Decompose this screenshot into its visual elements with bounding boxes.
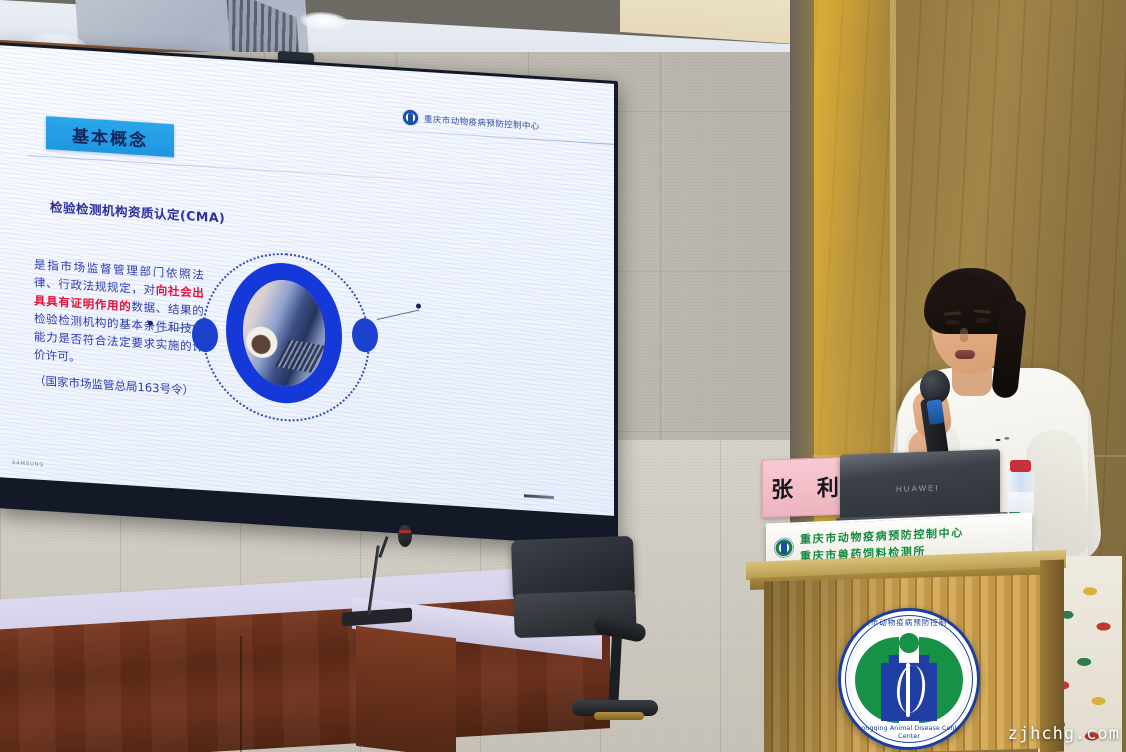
slide-header-logo-text: 重庆市动物疫病预防控制中心 <box>424 112 540 131</box>
right-leader-line <box>377 310 420 320</box>
speaker-mouth <box>955 350 975 359</box>
desk-panel-seam <box>240 636 242 752</box>
right-accent-circle <box>352 317 378 353</box>
slide-body-text: 是指市场监督管理部门依照法律、行政法规规定，对向社会出具具有证明作用的数据、结果… <box>34 255 204 374</box>
bottle-cap <box>1010 460 1031 472</box>
emblem-chinese-text: 重庆市动物疫病预防控制中心 <box>841 617 977 628</box>
left-accent-circle <box>192 317 218 353</box>
slide-citation: （国家市场监管总局163号令） <box>34 372 219 400</box>
slide-subtitle: 检验检测机构资质认定(CMA) <box>50 196 225 226</box>
left-leader-node <box>148 321 153 326</box>
laptop-coffee-photo <box>243 278 325 389</box>
led-display[interactable]: 重庆市动物疫病预防控制中心 基本概念 检验检测机构资质认定(CMA) 是指市场监… <box>0 42 622 551</box>
speaker-eye-right <box>975 318 990 323</box>
slide-title-rule <box>28 155 588 191</box>
slide-canvas: 重庆市动物疫病预防控制中心 基本概念 检验检测机构资质认定(CMA) 是指市场监… <box>0 45 614 516</box>
handheld-microphone-grip <box>926 399 944 425</box>
site-watermark: zjhchg.com <box>1008 724 1120 744</box>
laptop-brand-text: HUAWEI <box>896 483 940 494</box>
speaker-eye-left <box>945 320 960 325</box>
emblem-green-dot <box>899 633 919 653</box>
speaker-nose <box>960 328 968 342</box>
speaker-name-text: 张 利 <box>771 470 847 505</box>
keyboard-detail <box>275 340 326 373</box>
presentation-room-photo: 重庆市动物疫病预防控制中心 基本概念 检验检测机构资质认定(CMA) 是指市场监… <box>0 0 1126 752</box>
display-status-led <box>524 494 554 499</box>
office-chair-foot <box>594 712 644 720</box>
microphone-indicator-ring <box>399 530 411 533</box>
display-brand-mark: SAMSUNG <box>12 460 44 468</box>
ceiling-downlight <box>300 11 348 32</box>
display-bezel: 重庆市动物疫病预防控制中心 基本概念 检验检测机构资质认定(CMA) 是指市场监… <box>0 42 618 547</box>
right-leader-node <box>416 303 421 308</box>
tshirt-graphic <box>982 430 1022 450</box>
slide-title-text: 基本概念 <box>72 122 148 152</box>
organization-seal-icon <box>402 109 419 127</box>
desk-side-panel <box>356 626 456 752</box>
institution-seal-icon <box>774 537 794 558</box>
organization-emblem: 重庆市动物疫病预防控制中心 Chongqing Animal Disease C… <box>838 608 980 750</box>
emblem-english-text: Chongqing Animal Disease Control Center <box>841 724 977 740</box>
slide-circle-graphic <box>194 239 374 430</box>
microphone-head <box>398 525 412 547</box>
slide-header-logo: 重庆市动物疫病预防控制中心 <box>402 109 540 135</box>
slide-title-banner: 基本概念 <box>46 116 174 157</box>
